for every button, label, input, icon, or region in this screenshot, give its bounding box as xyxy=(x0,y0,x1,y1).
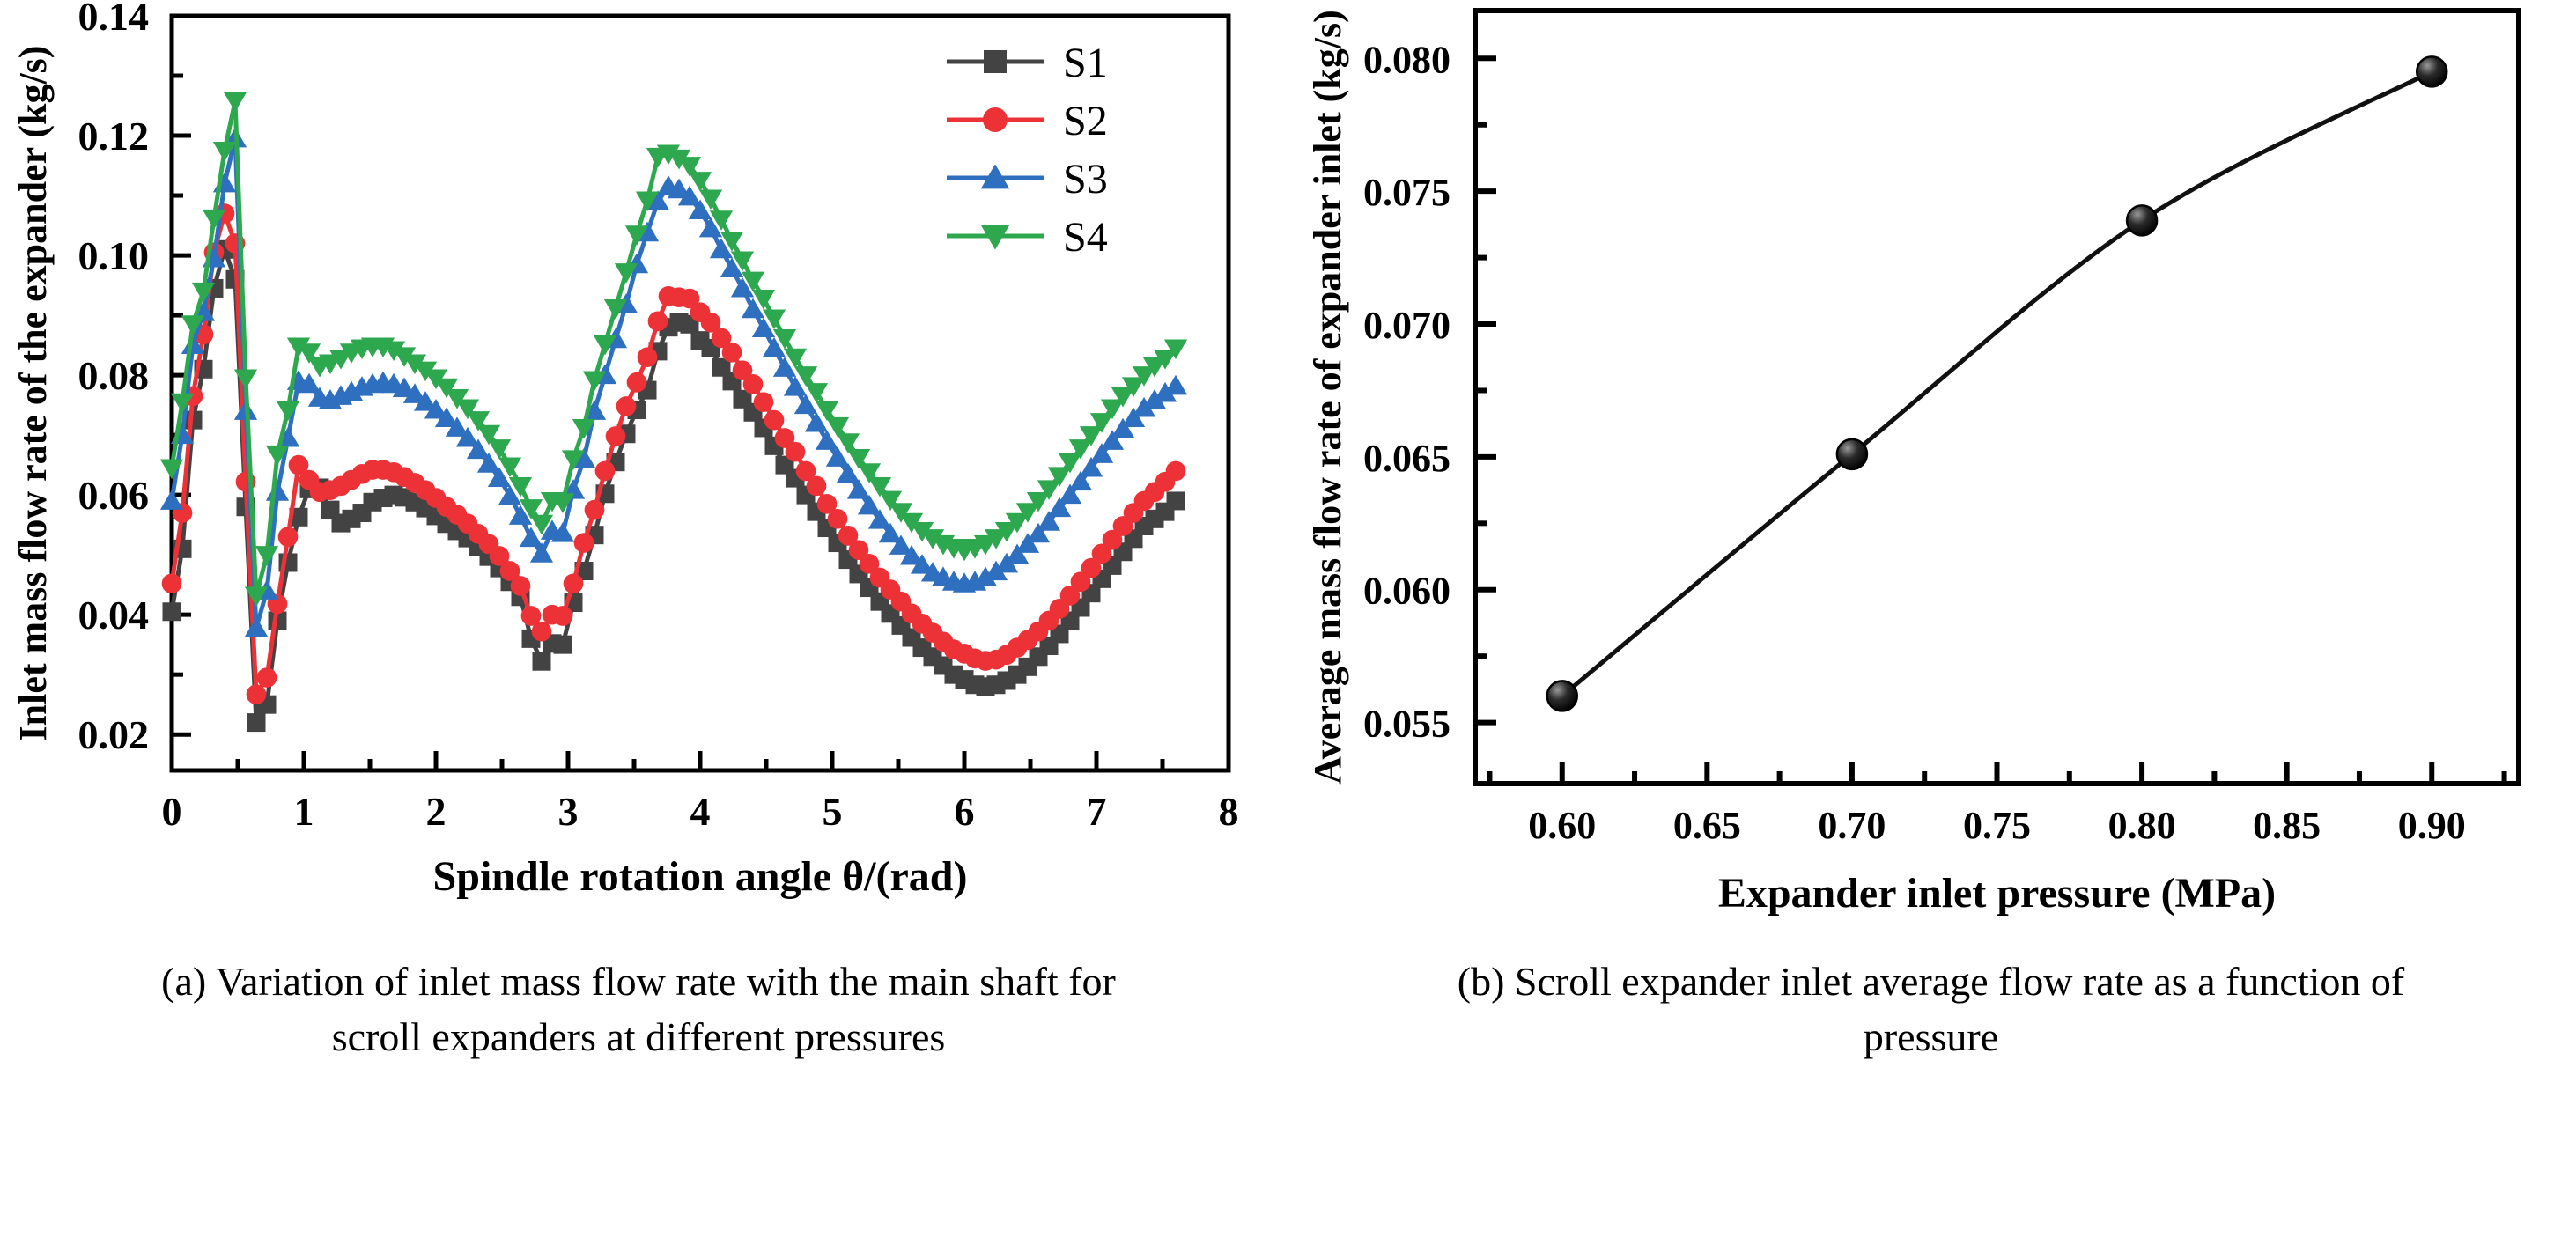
data-point-marker xyxy=(247,684,267,704)
data-point-marker xyxy=(616,396,637,416)
data-point-marker xyxy=(1164,375,1187,395)
x-axis-title: Spindle rotation angle θ/(rad) xyxy=(433,853,968,900)
data-point-marker xyxy=(648,312,668,332)
data-point-marker xyxy=(816,430,838,450)
x-axis-tick-label: 2 xyxy=(426,789,447,834)
data-point-marker xyxy=(786,442,806,462)
x-axis-tick-label: 7 xyxy=(1087,789,1107,834)
x-axis-tick-label: 4 xyxy=(690,789,711,834)
x-axis-tick-label: 5 xyxy=(823,789,843,834)
x-axis-tick-label: 0.60 xyxy=(1528,804,1596,847)
legend-label: S3 xyxy=(1063,156,1108,203)
data-point-marker xyxy=(533,652,551,671)
y-axis-tick-label: 0.06 xyxy=(78,473,150,518)
data-point-marker xyxy=(163,602,181,621)
x-axis-tick-label: 0 xyxy=(162,789,182,834)
data-point-marker xyxy=(255,546,278,566)
x-axis-tick-label: 6 xyxy=(955,789,975,834)
data-point-marker xyxy=(984,50,1007,73)
data-point-marker xyxy=(2127,205,2157,235)
plot-frame xyxy=(1475,11,2519,784)
series-S3 xyxy=(160,128,1187,637)
data-point-marker xyxy=(257,667,277,688)
data-point-marker xyxy=(606,426,626,446)
data-point-marker xyxy=(224,92,247,113)
legend-item-S3[interactable]: S3 xyxy=(947,156,1108,203)
data-point-marker xyxy=(277,401,299,422)
data-point-marker xyxy=(807,476,827,497)
series-line xyxy=(1562,71,2432,696)
data-point-marker xyxy=(754,392,774,412)
y-axis-tick-label: 0.10 xyxy=(78,233,150,278)
figure-captions: (a) Variation of inlet mass flow rate wi… xyxy=(0,947,2576,1065)
data-point-marker xyxy=(983,107,1008,132)
legend-item-S4[interactable]: S4 xyxy=(947,214,1108,261)
data-point-marker xyxy=(574,533,594,553)
average-mass-flow-rate-line-chart: 0.0550.0600.0650.0700.0750.0800.600.650.… xyxy=(1286,0,2576,947)
x-axis-tick-label: 0.75 xyxy=(1963,804,2031,847)
data-point-marker xyxy=(511,576,531,596)
data-point-marker xyxy=(828,509,848,529)
data-point-marker xyxy=(564,573,584,593)
series-line xyxy=(172,101,1176,596)
data-point-marker xyxy=(1837,439,1867,469)
data-point-marker xyxy=(266,481,289,501)
x-axis-tick-label: 8 xyxy=(1219,789,1239,834)
data-point-marker xyxy=(764,410,785,431)
legend: S1S2S3S4 xyxy=(947,40,1108,261)
legend-label: S2 xyxy=(1063,98,1108,144)
data-point-marker xyxy=(585,500,605,520)
series-line xyxy=(172,138,1176,628)
data-point-marker xyxy=(595,461,616,482)
data-point-marker xyxy=(162,573,182,593)
y-axis-tick-label: 0.14 xyxy=(78,0,150,39)
y-axis-tick-label: 0.080 xyxy=(1363,38,1450,81)
x-axis-tick-label: 3 xyxy=(558,789,579,834)
series-S2 xyxy=(162,203,1186,704)
legend-label: S4 xyxy=(1063,214,1108,261)
data-point-marker xyxy=(1166,461,1186,482)
data-point-marker xyxy=(278,527,299,547)
data-point-marker xyxy=(488,439,511,460)
data-point-marker xyxy=(1167,491,1185,510)
series-line xyxy=(172,213,1176,694)
x-axis-tick-label: 0.70 xyxy=(1818,804,1886,847)
data-point-marker xyxy=(2417,56,2447,86)
x-axis-tick-label: 0.90 xyxy=(2398,804,2466,847)
data-point-marker xyxy=(247,713,266,732)
legend-item-S2[interactable]: S2 xyxy=(947,98,1108,144)
series-S4 xyxy=(160,92,1187,607)
y-axis-tick-label: 0.02 xyxy=(78,712,150,757)
y-axis-tick-label: 0.075 xyxy=(1363,171,1450,214)
y-axis-tick-label: 0.055 xyxy=(1363,703,1450,746)
data-point-marker xyxy=(722,343,742,363)
data-point-marker xyxy=(743,374,764,394)
panel-b-chart: 0.0550.0600.0650.0700.0750.0800.600.650.… xyxy=(1286,0,2576,947)
figure-container: 0.020.040.060.080.100.120.14012345678Spi… xyxy=(0,0,2576,1245)
caption-panel-b: (b) Scroll expander inlet average flow r… xyxy=(1286,947,2576,1065)
y-axis-tick-label: 0.070 xyxy=(1363,304,1450,347)
inlet-mass-flow-rate-line-chart: 0.020.040.060.080.100.120.14012345678Spi… xyxy=(0,0,1286,947)
x-axis-title: Expander inlet pressure (MPa) xyxy=(1718,870,2276,917)
y-axis-tick-label: 0.12 xyxy=(78,114,150,158)
panel-a-chart: 0.020.040.060.080.100.120.14012345678Spi… xyxy=(0,0,1286,947)
data-point-marker xyxy=(160,460,183,480)
x-axis-tick-label: 0.80 xyxy=(2108,804,2176,847)
data-point-marker xyxy=(554,636,572,654)
y-axis-tick-label: 0.065 xyxy=(1363,437,1450,480)
caption-panel-a: (a) Variation of inlet mass flow rate wi… xyxy=(0,947,1286,1065)
x-axis-tick-label: 0.65 xyxy=(1673,804,1741,847)
data-point-marker xyxy=(627,372,647,393)
y-axis-tick-label: 0.08 xyxy=(78,353,150,398)
data-point-marker xyxy=(638,347,658,367)
legend-label: S1 xyxy=(1063,40,1108,86)
y-axis-tick-label: 0.04 xyxy=(78,593,150,637)
y-axis-title: Average mass flow rate of expander inlet… xyxy=(1306,10,1349,784)
data-point-marker xyxy=(532,622,552,642)
chart-panels: 0.020.040.060.080.100.120.14012345678Spi… xyxy=(0,0,2576,947)
data-point-marker xyxy=(1547,681,1577,711)
y-axis-tick-label: 0.060 xyxy=(1363,570,1450,613)
data-point-marker xyxy=(553,606,573,626)
data-point-marker xyxy=(245,617,268,637)
series-average-mass-flow-rate xyxy=(1547,56,2447,711)
legend-item-S1[interactable]: S1 xyxy=(947,40,1108,86)
data-point-marker xyxy=(689,172,712,192)
y-axis-title: Inlet mass flow rate of the expander (kg… xyxy=(11,46,55,741)
x-axis-tick-label: 0.85 xyxy=(2253,804,2321,847)
x-axis-tick-label: 1 xyxy=(294,789,314,834)
